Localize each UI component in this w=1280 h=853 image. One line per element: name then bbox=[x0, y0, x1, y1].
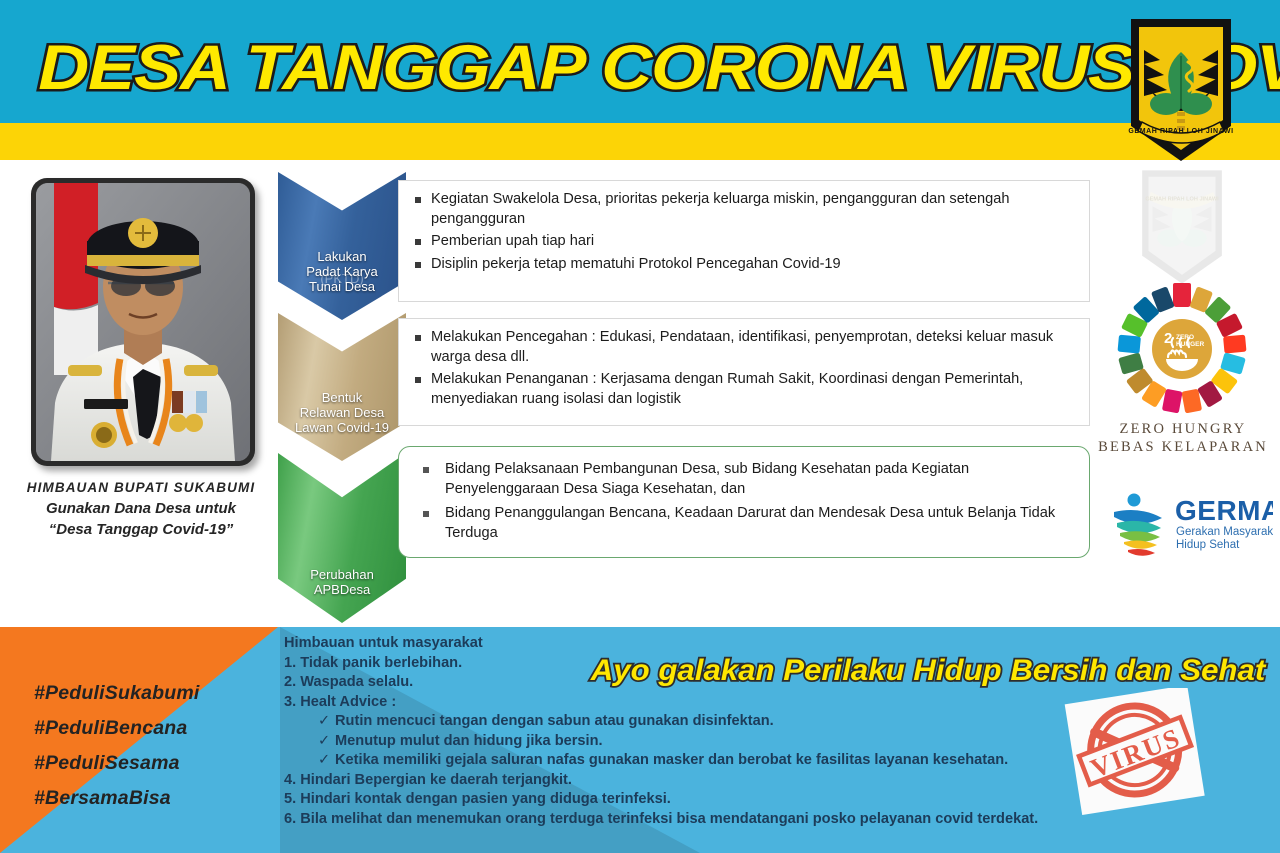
bullet-list-apbdesa: Bidang Pelaksanaan Pembangunan Desa, sub… bbox=[399, 447, 1089, 543]
list-item: Melakukan Pencegahan : Edukasi, Pendataa… bbox=[413, 328, 1075, 367]
list-item: Disiplin pekerja tetap mematuhi Protokol… bbox=[413, 255, 1075, 275]
svg-text:GEMAH RIPAH LOH JINAWI: GEMAH RIPAH LOH JINAWI bbox=[1145, 197, 1219, 203]
hashtag-item: #BersamaBisa bbox=[34, 781, 264, 816]
content-box-apbdesa: Bidang Pelaksanaan Pembangunan Desa, sub… bbox=[398, 446, 1090, 558]
list-item: Melakukan Penanganan : Kerjasama dengan … bbox=[413, 370, 1075, 409]
germas-sub-1: Gerakan Masyarakat bbox=[1176, 526, 1273, 538]
bupati-photo bbox=[36, 183, 250, 461]
sublist-text: Menutup mulut dan hidung jika bersin. bbox=[335, 733, 603, 749]
chevron-label-line: Lawan Covid-19 bbox=[295, 420, 389, 435]
list-item: Bidang Penanggulangan Bencana, Keadaan D… bbox=[423, 504, 1075, 543]
caption-line-3: “Desa Tanggap Covid-19” bbox=[10, 519, 272, 540]
sdg-caption: ZERO HUNGRY BEBAS KELAPARAN bbox=[1096, 420, 1270, 456]
hashtag-item: #PeduliSukabumi bbox=[34, 676, 264, 711]
poster-canvas: DESA TANGGAP CORONA VIRUS COVID - 19 GEM… bbox=[0, 0, 1280, 853]
list-item: Bidang Pelaksanaan Pembangunan Desa, sub… bbox=[423, 460, 1075, 499]
content-box-relawan: Melakukan Pencegahan : Edukasi, Pendataa… bbox=[398, 318, 1090, 426]
germas-logo-icon: GERMAS Gerakan Masyarakat Hidup Sehat bbox=[1107, 488, 1273, 558]
step-chevron-apbdesa: Perubahan APBDesa bbox=[278, 453, 406, 623]
bupati-photo-frame bbox=[31, 178, 255, 466]
header-yellow-band bbox=[0, 123, 1280, 160]
chevron-label-line: Tunai Desa bbox=[309, 279, 375, 294]
caption-line-2: Gunakan Dana Desa untuk bbox=[10, 498, 272, 519]
hashtag-item: #PeduliBencana bbox=[34, 711, 264, 746]
chevron-label-line: Lakukan bbox=[317, 249, 366, 264]
step-chevron-pktd: (PKTD) Lakukan Padat Karya Tunai Desa bbox=[278, 172, 406, 320]
svg-text:ZERO: ZERO bbox=[1176, 334, 1194, 341]
virus-stamp-icon: VIRUS bbox=[1055, 688, 1215, 816]
content-box-pktd: Kegiatan Swakelola Desa, prioritas peker… bbox=[398, 180, 1090, 302]
chevron-label-relawan: Bentuk Relawan Desa Lawan Covid-19 bbox=[295, 390, 389, 461]
bullet-list-pktd: Kegiatan Swakelola Desa, prioritas peker… bbox=[399, 181, 1089, 274]
caption-line-1: HIMBAUAN BUPATI SUKABUMI bbox=[10, 478, 272, 498]
watermark-emblem-icon: GEMAH RIPAH LOH JINAWI bbox=[1130, 168, 1234, 286]
list-item: 5. Hindari kontak dengan pasien yang did… bbox=[284, 790, 1084, 810]
advisory-list-part-2: 4. Hindari Bepergian ke daerah terjangki… bbox=[284, 771, 1084, 830]
sdg-wheel-icon: 2 ZERO HUNGER bbox=[1113, 280, 1251, 418]
sublist-text: Ketika memiliki gejala saluran nafas gun… bbox=[335, 752, 1008, 768]
germas-title: GERMAS bbox=[1175, 495, 1273, 526]
list-item: 6. Bila melihat dan menemukan orang terd… bbox=[284, 810, 1084, 830]
chevron-label-apbdesa: Perubahan APBDesa bbox=[310, 567, 374, 623]
chevron-label-line: Perubahan bbox=[310, 567, 374, 582]
page-title: DESA TANGGAP CORONA VIRUS COVID - 19 bbox=[38, 28, 1192, 108]
germas-sub-2: Hidup Sehat bbox=[1176, 539, 1240, 551]
list-item: Ketika memiliki gejala saluran nafas gun… bbox=[318, 751, 1084, 771]
step-chevron-relawan: Bentuk Relawan Desa Lawan Covid-19 bbox=[278, 313, 406, 461]
advisory-sublist-health: Rutin mencuci tangan dengan sabun atau g… bbox=[284, 712, 1084, 771]
list-item: 3. Healt Advice : bbox=[284, 693, 1084, 713]
list-item: 4. Hindari Bepergian ke daerah terjangki… bbox=[284, 771, 1084, 791]
chevron-label-pktd: Lakukan Padat Karya Tunai Desa bbox=[306, 249, 378, 320]
sdg-caption-line-1: ZERO HUNGRY bbox=[1096, 420, 1270, 438]
portrait-caption: HIMBAUAN BUPATI SUKABUMI Gunakan Dana De… bbox=[10, 478, 272, 540]
hashtag-list: #PeduliSukabumi #PeduliBencana #PeduliSe… bbox=[34, 676, 264, 816]
hashtag-item: #PeduliSesama bbox=[34, 746, 264, 781]
list-item: Menutup mulut dan hidung jika bersin. bbox=[318, 732, 1084, 752]
sukabumi-regency-emblem-icon: GEMAH RIPAH LOH JINAWI bbox=[1128, 16, 1234, 164]
list-item: Pemberian upah tiap hari bbox=[413, 232, 1075, 252]
chevron-label-line: Bentuk bbox=[322, 390, 362, 405]
chevron-label-line: APBDesa bbox=[314, 582, 370, 597]
sublist-text: Rutin mencuci tangan dengan sabun atau g… bbox=[335, 713, 774, 729]
chevron-label-line: Relawan Desa bbox=[300, 405, 385, 420]
emblem-motto-text: GEMAH RIPAH LOH JINAWI bbox=[1128, 128, 1233, 135]
sdg-caption-line-2: BEBAS KELAPARAN bbox=[1096, 438, 1270, 456]
list-item: Rutin mencuci tangan dengan sabun atau g… bbox=[318, 712, 1084, 732]
bullet-list-relawan: Melakukan Pencegahan : Edukasi, Pendataa… bbox=[399, 319, 1089, 409]
chevron-label-line: Padat Karya bbox=[306, 264, 378, 279]
list-item: Kegiatan Swakelola Desa, prioritas peker… bbox=[413, 190, 1075, 229]
